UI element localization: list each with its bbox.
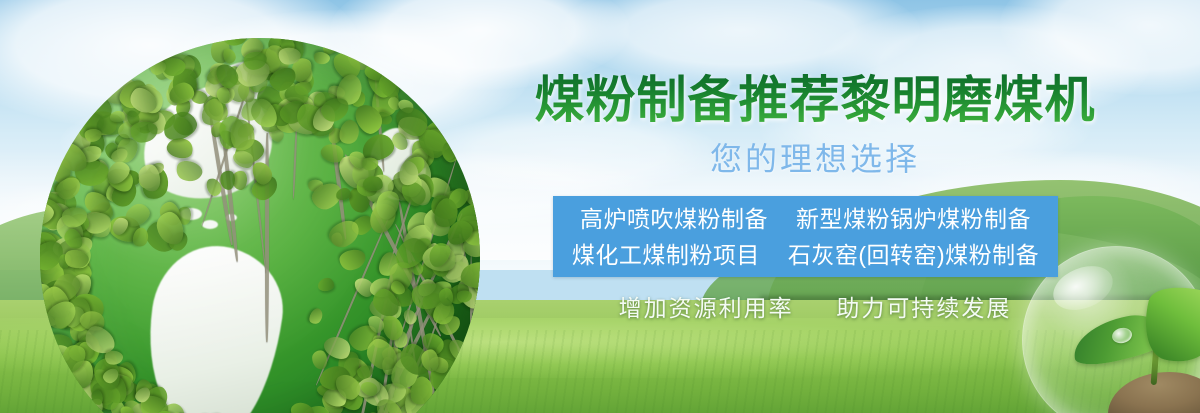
tagline-right: 助力可持续发展 [836, 295, 1011, 321]
globe-leaf [307, 306, 326, 326]
banner-tagline: 增加资源利用率 助力可持续发展 [515, 292, 1115, 324]
globe-leaf [312, 350, 327, 369]
banner-headline: 煤粉制备推荐黎明磨煤机 [515, 70, 1115, 130]
feature-row: 煤化工煤制粉项目 石灰窑(回转窑)煤粉制备 [553, 237, 1058, 273]
feature-item[interactable]: 石灰窑(回转窑)煤粉制备 [781, 237, 1046, 273]
globe-leaf [173, 157, 205, 186]
globe-leaf-canopy [40, 38, 480, 413]
tagline-left: 增加资源利用率 [619, 295, 794, 321]
globe-leaf [339, 248, 367, 271]
globe-leaf [439, 288, 453, 306]
globe-vine [292, 123, 298, 199]
feature-item[interactable]: 高炉喷吹煤粉制备 [573, 201, 775, 237]
globe-leaf [194, 409, 234, 413]
feature-item[interactable]: 煤化工煤制粉项目 [565, 237, 767, 273]
feature-row: 高炉喷吹煤粉制备 新型煤粉锅炉煤粉制备 [553, 201, 1058, 237]
earth-globe [30, 28, 500, 413]
globe-leaf [288, 397, 318, 413]
feature-list-box: 高炉喷吹煤粉制备 新型煤粉锅炉煤粉制备 煤化工煤制粉项目 石灰窑(回转窑)煤粉制… [553, 196, 1058, 277]
feature-item[interactable]: 新型煤粉锅炉煤粉制备 [789, 201, 1038, 237]
promo-banner: 煤粉制备推荐黎明磨煤机 您的理想选择 高炉喷吹煤粉制备 新型煤粉锅炉煤粉制备 煤… [0, 0, 1200, 413]
globe-leaf [130, 122, 157, 143]
globe-leaf [317, 278, 334, 292]
banner-subheadline: 您的理想选择 [515, 138, 1115, 180]
